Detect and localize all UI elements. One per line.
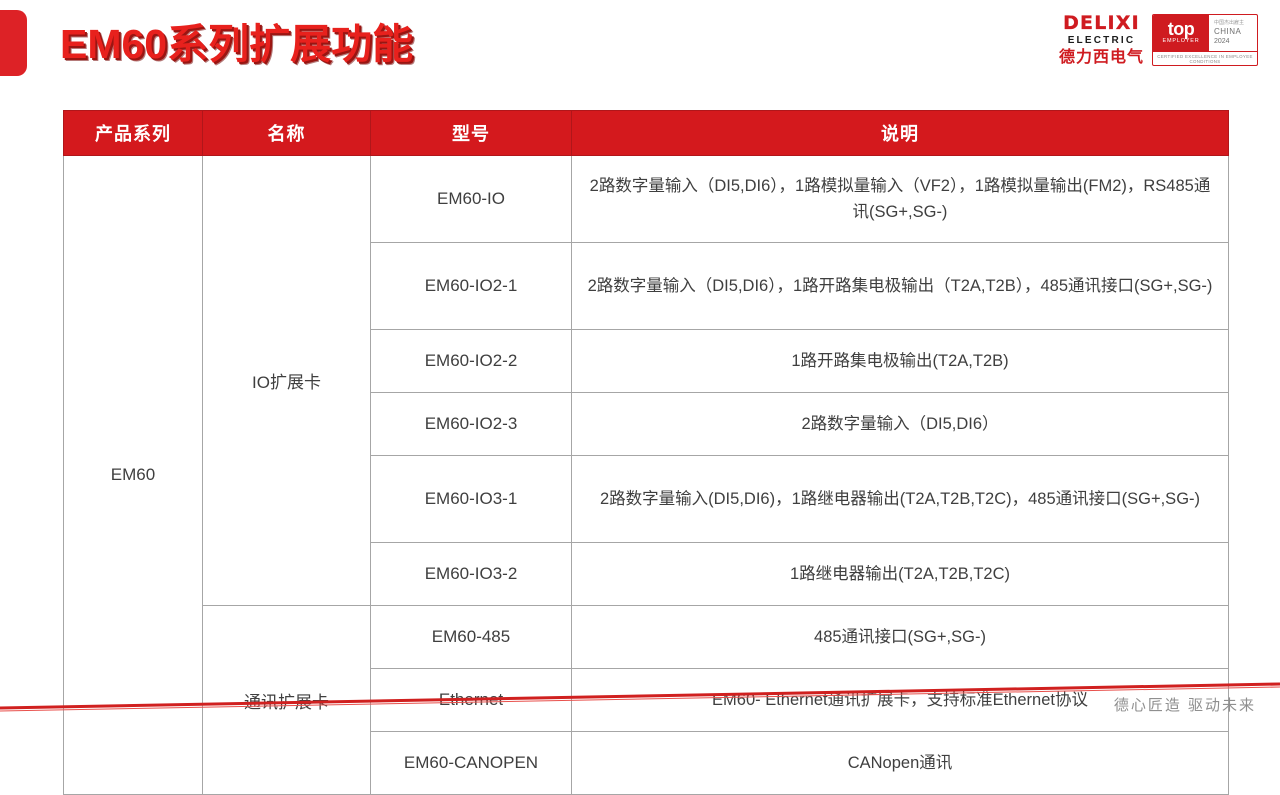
cell-description: CANopen通讯 bbox=[572, 732, 1229, 795]
brand-logo: DELIXI ELECTRIC 德力西电气 top EMPLOYER 中国杰出雇… bbox=[1059, 14, 1258, 66]
col-header-description: 说明 bbox=[572, 111, 1229, 156]
badge-logo-block: top EMPLOYER bbox=[1153, 15, 1209, 51]
cell-model: EM60-CANOPEN bbox=[371, 732, 572, 795]
cell-model: EM60-IO bbox=[371, 156, 572, 243]
badge-line-cn: 中国杰出雇主 bbox=[1214, 20, 1257, 27]
cell-group-name: IO扩展卡 bbox=[203, 156, 371, 606]
table-row: EM60IO扩展卡EM60-IO2路数字量输入（DI5,DI6），1路模拟量输入… bbox=[64, 156, 1229, 243]
col-header-model: 型号 bbox=[371, 111, 572, 156]
cell-model: EM60-IO2-2 bbox=[371, 330, 572, 393]
badge-info-block: 中国杰出雇主 CHINA 2024 bbox=[1209, 15, 1257, 51]
brand-subtitle-en: ELECTRIC bbox=[1068, 36, 1136, 46]
cell-description: 2路数字量输入(DI5,DI6)，1路继电器输出(T2A,T2B,T2C)，48… bbox=[572, 456, 1229, 543]
cell-description: 2路数字量输入（DI5,DI6） bbox=[572, 393, 1229, 456]
top-employer-badge: top EMPLOYER 中国杰出雇主 CHINA 2024 CERTIFIED… bbox=[1152, 14, 1258, 66]
badge-country: CHINA bbox=[1214, 27, 1257, 37]
badge-caption: CERTIFIED EXCELLENCE IN EMPLOYEE CONDITI… bbox=[1153, 51, 1257, 65]
footer-slogan: 德心匠造 驱动未来 bbox=[1114, 694, 1256, 715]
cell-description: 2路数字量输入（DI5,DI6），1路开路集电极输出（T2A,T2B），485通… bbox=[572, 243, 1229, 330]
cell-model: EM60-IO2-3 bbox=[371, 393, 572, 456]
cell-description: 1路继电器输出(T2A,T2B,T2C) bbox=[572, 543, 1229, 606]
table-header-row: 产品系列 名称 型号 说明 bbox=[64, 111, 1229, 156]
title-accent-bar bbox=[0, 10, 27, 76]
col-header-name: 名称 bbox=[203, 111, 371, 156]
brand-name-en: DELIXI bbox=[1063, 14, 1140, 33]
cell-description: 2路数字量输入（DI5,DI6），1路模拟量输入（VF2），1路模拟量输出(FM… bbox=[572, 156, 1229, 243]
badge-body: top EMPLOYER 中国杰出雇主 CHINA 2024 bbox=[1153, 15, 1257, 51]
cell-model: EM60-IO2-1 bbox=[371, 243, 572, 330]
cell-model: EM60-IO3-1 bbox=[371, 456, 572, 543]
brand-name-cn: 德力西电气 bbox=[1059, 50, 1144, 66]
page-title: EM60系列扩展功能 bbox=[60, 16, 413, 72]
cell-description: 1路开路集电极输出(T2A,T2B) bbox=[572, 330, 1229, 393]
badge-top-word: top bbox=[1168, 21, 1194, 38]
badge-employer-word: EMPLOYER bbox=[1163, 38, 1200, 45]
badge-year: 2024 bbox=[1214, 37, 1257, 46]
footer-divider-line bbox=[0, 660, 1280, 720]
cell-model: EM60-IO3-2 bbox=[371, 543, 572, 606]
delixi-wordmark: DELIXI ELECTRIC 德力西电气 bbox=[1059, 14, 1144, 66]
col-header-series: 产品系列 bbox=[64, 111, 203, 156]
